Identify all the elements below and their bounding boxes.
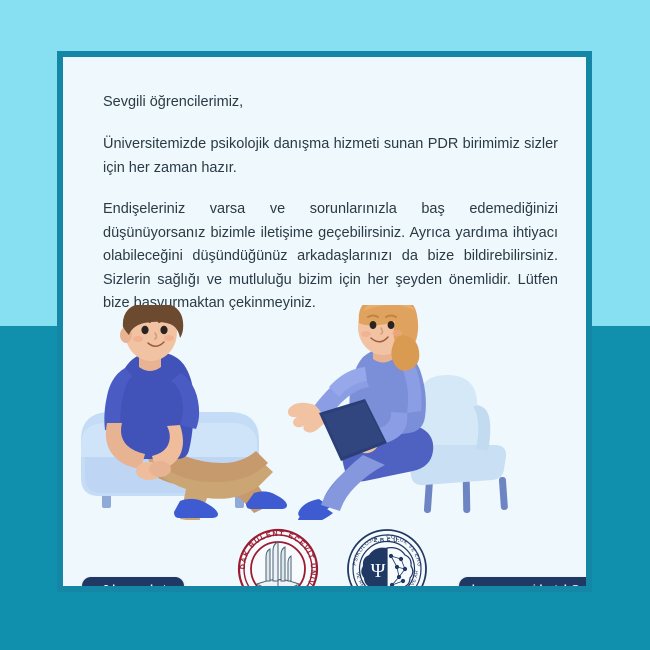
pdr-center-logo: PSİKOLOJİK ÇOCUK VE ERGEN DANIŞMA VE REH… [345, 527, 429, 592]
paragraph-2: Endişeleriniz varsa ve sorunlarınızla ba… [103, 198, 558, 315]
counselor-figure [288, 305, 433, 520]
email-pill[interactable]: beunogrencidestek@gmail.com [459, 577, 592, 592]
counseling-illustration [63, 305, 586, 520]
announcement-card: Sevgili öğrencilerimiz, Üniversitemizde … [57, 51, 592, 592]
university-logo: ZONGULDAK BÜLENT ECEVİT ÜNİVERSİTESİ 199… [236, 527, 320, 592]
poster: Sevgili öğrencilerimiz, Üniversitemizde … [0, 0, 650, 650]
svg-text:Z.B.E.Ü.: Z.B.E.Ü. [374, 537, 400, 544]
website-pill[interactable]: w3.beun.edu.tr [82, 577, 184, 592]
paragraph-1: Üniversitemizde psikolojik danışma hizme… [103, 133, 558, 180]
announcement-text: Sevgili öğrencilerimiz, Üniversitemizde … [103, 91, 558, 316]
greeting-line: Sevgili öğrencilerimiz, [103, 91, 558, 113]
card-inner: Sevgili öğrencilerimiz, Üniversitemizde … [63, 57, 586, 586]
psi-symbol: Ψ [371, 560, 386, 582]
